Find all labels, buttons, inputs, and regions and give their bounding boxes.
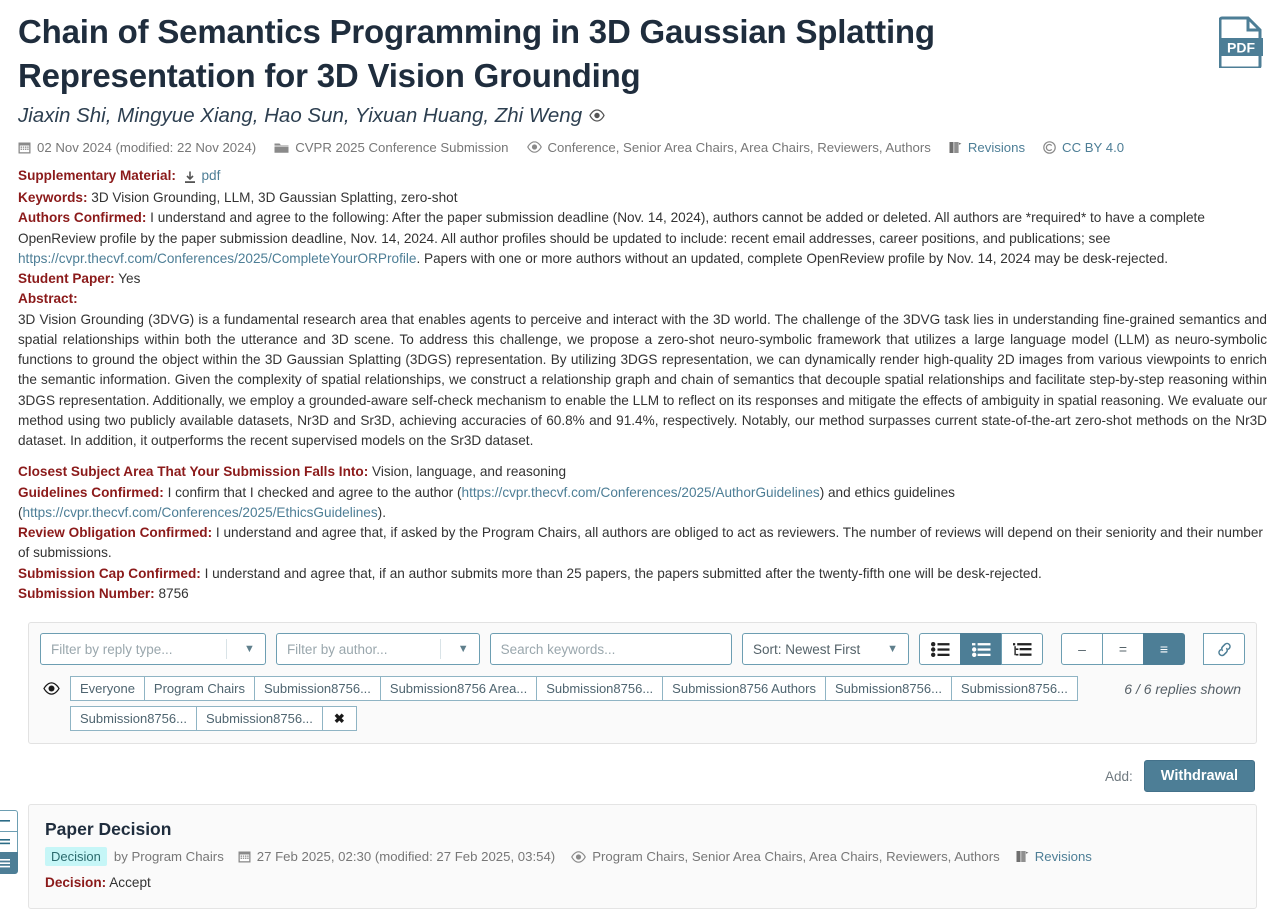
field-subject-area: Closest Subject Area That Your Submissio… bbox=[18, 462, 1267, 482]
authors-list: Jiaxin Shi, Mingyue Xiang, Hao Sun, Yixu… bbox=[18, 104, 582, 128]
decision-field: Decision: Accept bbox=[45, 875, 1240, 890]
nested-list-view-button[interactable] bbox=[960, 633, 1002, 665]
revisions-icon bbox=[949, 141, 962, 154]
revisions-icon bbox=[1016, 850, 1029, 863]
partial-expand-label: = bbox=[1119, 642, 1127, 656]
expand-all-label: ≡ bbox=[1160, 642, 1168, 656]
decision-title: Paper Decision bbox=[45, 819, 1240, 840]
field-label: Student Paper: bbox=[18, 271, 115, 286]
author-guidelines-link[interactable]: https://cvpr.thecvf.com/Conferences/2025… bbox=[462, 485, 820, 500]
decision-revisions[interactable]: Revisions bbox=[1016, 849, 1092, 864]
reply-type-filter[interactable]: Filter by reply type... ▼ bbox=[40, 633, 266, 665]
abstract-text: 3D Vision Grounding (3DVG) is a fundamen… bbox=[18, 310, 1267, 452]
view-mode-group bbox=[919, 633, 1043, 665]
field-abstract: Abstract: 3D Vision Grounding (3DVG) is … bbox=[18, 289, 1267, 451]
spacer bbox=[18, 451, 1267, 462]
chip-submission-authors[interactable]: Submission8756 Authors bbox=[662, 676, 826, 701]
collapse-all-button[interactable]: – bbox=[1061, 633, 1103, 665]
thread-expand-button[interactable] bbox=[0, 852, 18, 874]
field-value: Vision, language, and reasoning bbox=[372, 464, 566, 479]
field-label: Guidelines Confirmed: bbox=[18, 485, 164, 500]
sort-value: Sort: Newest First bbox=[753, 642, 860, 657]
decision-date: 27 Feb 2025, 02:30 (modified: 27 Feb 202… bbox=[238, 849, 555, 864]
field-review-obligation: Review Obligation Confirmed: I understan… bbox=[18, 523, 1267, 564]
link-group bbox=[1203, 633, 1245, 665]
paper-decision-card: Paper Decision Decision by Program Chair… bbox=[28, 804, 1257, 909]
chip-program-chairs[interactable]: Program Chairs bbox=[144, 676, 255, 701]
link-icon bbox=[1216, 641, 1233, 658]
field-student-paper: Student Paper: Yes bbox=[18, 269, 1267, 289]
chip-group-4[interactable]: Submission8756 Area... bbox=[380, 676, 537, 701]
partial-expand-button[interactable]: = bbox=[1102, 633, 1144, 665]
status-badge: Decision bbox=[45, 847, 107, 866]
reply-filter-panel: Filter by reply type... ▼ Filter by auth… bbox=[28, 622, 1257, 744]
meta-license[interactable]: CC BY 4.0 bbox=[1043, 140, 1124, 155]
svg-text:PDF: PDF bbox=[1227, 40, 1255, 56]
field-submission-cap: Submission Cap Confirmed: I understand a… bbox=[18, 564, 1267, 584]
withdrawal-button[interactable]: Withdrawal bbox=[1144, 760, 1255, 792]
search-input[interactable]: Search keywords... bbox=[490, 633, 732, 665]
thread-density-group bbox=[0, 810, 18, 874]
guidelines-part3: ). bbox=[378, 505, 386, 520]
eye-icon[interactable] bbox=[40, 682, 62, 695]
decision-readers: Program Chairs, Senior Area Chairs, Area… bbox=[571, 849, 1000, 864]
field-label: Abstract: bbox=[18, 289, 1267, 309]
meta-venue: CVPR 2025 Conference Submission bbox=[274, 140, 508, 155]
reader-chips-row-2: Submission8756... Submission8756... ✖ bbox=[70, 706, 1245, 731]
decision-revisions-text[interactable]: Revisions bbox=[1035, 849, 1092, 864]
filter-controls-row: Filter by reply type... ▼ Filter by auth… bbox=[40, 633, 1245, 665]
decision-section: Paper Decision Decision by Program Chair… bbox=[28, 804, 1257, 909]
field-value: Yes bbox=[118, 271, 140, 286]
divider bbox=[440, 639, 441, 659]
field-list: Supplementary Material: pdf Keywords: 3D… bbox=[18, 166, 1267, 604]
field-submission-number: Submission Number: 8756 bbox=[18, 584, 1267, 604]
field-label: Closest Subject Area That Your Submissio… bbox=[18, 464, 368, 479]
add-label: Add: bbox=[1105, 769, 1133, 784]
meta-row: 02 Nov 2024 (modified: 22 Nov 2024) CVPR… bbox=[18, 140, 1267, 155]
authors-line: Jiaxin Shi, Mingyue Xiang, Hao Sun, Yixu… bbox=[18, 104, 1267, 128]
meta-venue-text: CVPR 2025 Conference Submission bbox=[295, 140, 508, 155]
guidelines-part1: I confirm that I checked and agree to th… bbox=[168, 485, 462, 500]
paper-forum-page: Chain of Semantics Programming in 3D Gau… bbox=[0, 0, 1285, 919]
header: Chain of Semantics Programming in 3D Gau… bbox=[18, 0, 1267, 98]
chip-everyone[interactable]: Everyone bbox=[70, 676, 145, 701]
decision-field-label: Decision: bbox=[45, 875, 106, 890]
decision-date-text: 27 Feb 2025, 02:30 (modified: 27 Feb 202… bbox=[257, 849, 555, 864]
meta-license-text[interactable]: CC BY 4.0 bbox=[1062, 140, 1124, 155]
threaded-tree-view-button[interactable] bbox=[1001, 633, 1043, 665]
reader-chips-row-1: Everyone Program Chairs Submission8756..… bbox=[40, 676, 1245, 701]
supplementary-pdf-link[interactable]: pdf bbox=[201, 168, 220, 183]
field-value-part1: I understand and agree to the following:… bbox=[18, 210, 1205, 245]
field-label: Submission Cap Confirmed: bbox=[18, 566, 201, 581]
calendar-icon bbox=[238, 850, 251, 863]
author-filter[interactable]: Filter by author... ▼ bbox=[276, 633, 480, 665]
search-placeholder: Search keywords... bbox=[501, 642, 616, 657]
decision-meta: Decision by Program Chairs bbox=[45, 847, 1240, 866]
copyright-icon bbox=[1043, 141, 1056, 154]
replies-shown-count: 6 / 6 replies shown bbox=[1124, 681, 1245, 697]
field-label: Supplementary Material: bbox=[18, 168, 176, 183]
chip-group-3[interactable]: Submission8756... bbox=[254, 676, 381, 701]
field-value: I understand and agree that, if an autho… bbox=[205, 566, 1042, 581]
page-title: Chain of Semantics Programming in 3D Gau… bbox=[18, 10, 1138, 98]
field-supplementary-material: Supplementary Material: pdf bbox=[18, 166, 1267, 188]
meta-readers-text: Conference, Senior Area Chairs, Area Cha… bbox=[548, 140, 931, 155]
sort-select[interactable]: Sort: Newest First ▼ bbox=[742, 633, 909, 665]
copy-link-button[interactable] bbox=[1203, 633, 1245, 665]
decision-author: by Program Chairs bbox=[114, 849, 224, 864]
decision-readers-text: Program Chairs, Senior Area Chairs, Area… bbox=[592, 849, 1000, 864]
meta-revisions-text[interactable]: Revisions bbox=[968, 140, 1025, 155]
chip-group-9[interactable]: Submission8756... bbox=[70, 706, 197, 731]
expand-all-button[interactable]: ≡ bbox=[1143, 633, 1185, 665]
reply-type-placeholder: Filter by reply type... bbox=[51, 642, 173, 657]
clear-filters-button[interactable]: ✖ bbox=[322, 706, 357, 731]
chip-group-5[interactable]: Submission8756... bbox=[536, 676, 663, 701]
field-label: Review Obligation Confirmed: bbox=[18, 525, 212, 540]
chevron-down-icon[interactable]: ▼ bbox=[458, 643, 469, 655]
pdf-icon[interactable]: PDF bbox=[1219, 16, 1263, 68]
field-label: Authors Confirmed: bbox=[18, 210, 146, 225]
chevron-down-icon[interactable]: ▼ bbox=[887, 643, 898, 655]
field-label: Submission Number: bbox=[18, 586, 155, 601]
collapse-all-label: – bbox=[1078, 642, 1086, 656]
divider bbox=[226, 639, 227, 659]
chip-group-7[interactable]: Submission8756... bbox=[825, 676, 952, 701]
folder-icon bbox=[274, 141, 289, 154]
decision-field-value: Accept bbox=[109, 875, 151, 890]
eye-icon bbox=[571, 851, 586, 863]
calendar-icon bbox=[18, 141, 31, 154]
field-guidelines-confirmed: Guidelines Confirmed: I confirm that I c… bbox=[18, 483, 1267, 524]
thread-collapse-button[interactable] bbox=[0, 810, 18, 832]
thread-partial-button[interactable] bbox=[0, 831, 18, 853]
meta-date-text: 02 Nov 2024 (modified: 22 Nov 2024) bbox=[37, 140, 256, 155]
chip-group-10[interactable]: Submission8756... bbox=[196, 706, 323, 731]
field-keywords: Keywords: 3D Vision Grounding, LLM, 3D G… bbox=[18, 188, 1267, 208]
add-reply-row: Add: Withdrawal bbox=[18, 760, 1267, 792]
density-group: – = ≡ bbox=[1061, 633, 1185, 665]
meta-revisions[interactable]: Revisions bbox=[949, 140, 1025, 155]
chip-group-8[interactable]: Submission8756... bbox=[951, 676, 1078, 701]
field-value: 3D Vision Grounding, LLM, 3D Gaussian Sp… bbox=[91, 190, 457, 205]
meta-readers: Conference, Senior Area Chairs, Area Cha… bbox=[527, 140, 931, 155]
meta-date: 02 Nov 2024 (modified: 22 Nov 2024) bbox=[18, 140, 256, 155]
ethics-guidelines-link[interactable]: https://cvpr.thecvf.com/Conferences/2025… bbox=[23, 505, 378, 520]
complete-profile-link[interactable]: https://cvpr.thecvf.com/Conferences/2025… bbox=[18, 251, 416, 266]
download-icon[interactable] bbox=[184, 170, 200, 185]
chevron-down-icon[interactable]: ▼ bbox=[244, 643, 255, 655]
field-label: Keywords: bbox=[18, 190, 88, 205]
field-value: 8756 bbox=[159, 586, 189, 601]
field-authors-confirmed: Authors Confirmed: I understand and agre… bbox=[18, 208, 1267, 269]
eye-icon[interactable] bbox=[589, 109, 605, 122]
flat-list-view-button[interactable] bbox=[919, 633, 961, 665]
field-value-part2: . Papers with one or more authors withou… bbox=[416, 251, 1168, 266]
author-placeholder: Filter by author... bbox=[287, 642, 388, 657]
eye-icon bbox=[527, 141, 542, 153]
